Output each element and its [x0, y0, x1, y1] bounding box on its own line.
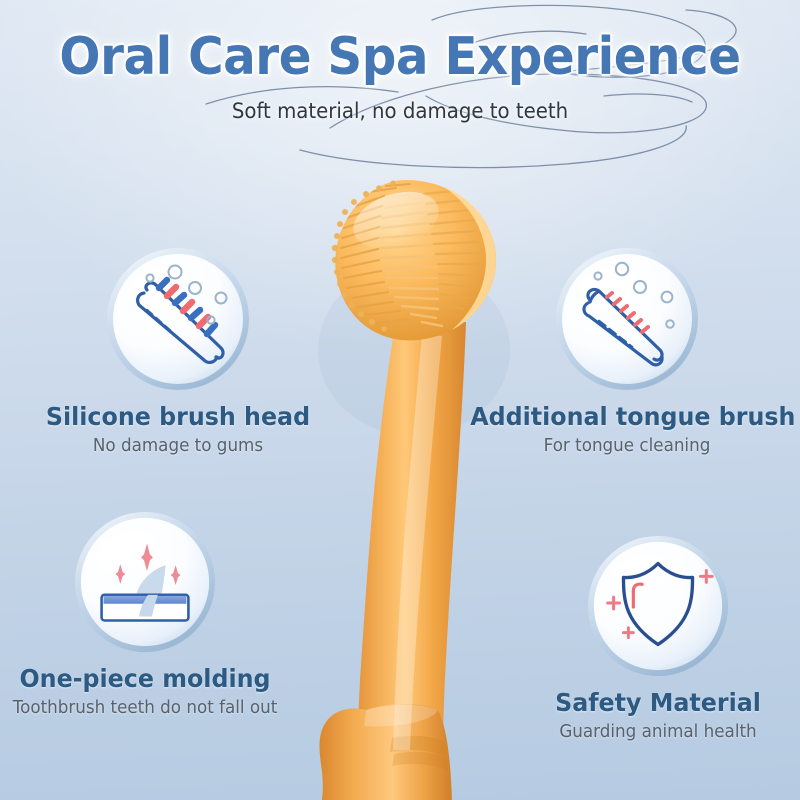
feature-1-subtitle: No damage to gums — [29, 435, 327, 456]
toothbrush-bristles-icon — [103, 244, 253, 394]
feature-safety-material: Safety Material Guarding animal health — [520, 532, 796, 742]
page-subtitle: Soft material, no damage to teeth — [24, 99, 776, 123]
poster-header: Oral Care Spa Experience Soft material, … — [0, 30, 800, 123]
shield-icon — [584, 532, 732, 680]
feature-silicone-brush-head: Silicone brush head No damage to gums — [18, 244, 338, 456]
tongue-scraper-icon — [552, 244, 702, 394]
feature-4-title: Safety Material — [527, 688, 789, 717]
feature-2-badge — [552, 244, 702, 394]
molded-bristle-icon — [71, 508, 219, 656]
feature-1-badge — [103, 244, 253, 394]
feature-2-title: Additional tongue brush — [470, 402, 784, 431]
feature-one-piece-molding: One-piece molding Toothbrush teeth do no… — [0, 508, 290, 718]
product-infographic-poster: Oral Care Spa Experience Soft material, … — [0, 0, 800, 800]
feature-3-title: One-piece molding — [7, 664, 283, 693]
feature-2-subtitle: For tongue cleaning — [474, 435, 781, 456]
feature-additional-tongue-brush: Additional tongue brush For tongue clean… — [462, 244, 792, 456]
feature-3-subtitle: Toothbrush teeth do not fall out — [10, 697, 280, 718]
feature-4-badge — [584, 532, 732, 680]
page-title: Oral Care Spa Experience — [28, 30, 772, 85]
feature-4-subtitle: Guarding animal health — [530, 721, 787, 742]
feature-1-title: Silicone brush head — [26, 402, 330, 431]
feature-3-badge — [71, 508, 219, 656]
